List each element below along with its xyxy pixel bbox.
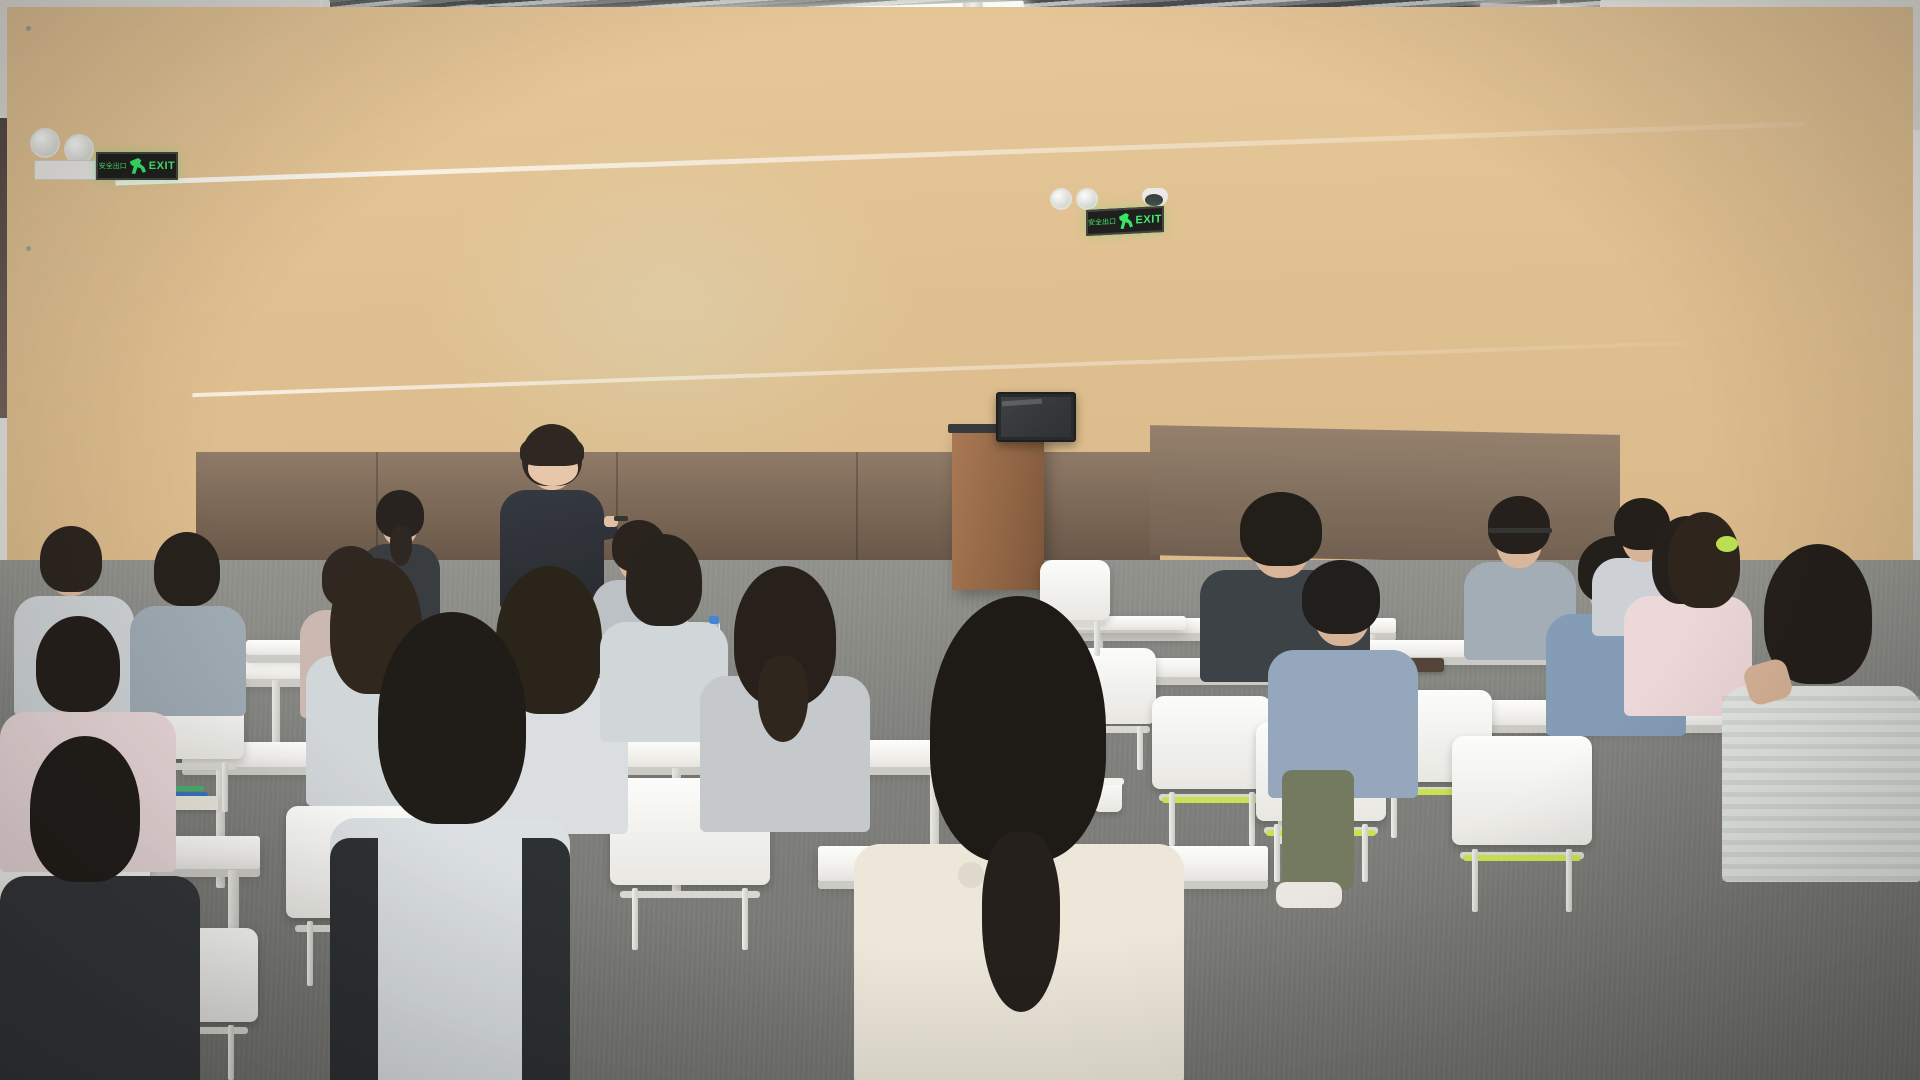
glass-mount-dot [26, 246, 31, 251]
exit-sign-chinese-label: 安全出口 [99, 161, 127, 171]
emergency-lamp [1050, 188, 1072, 210]
attendee [1722, 536, 1920, 876]
training-room-photo: 安全出口 EXIT 安全出口 EXIT PHILIPS 演示窗口 幻灯片放映 二… [0, 0, 1920, 1080]
exit-sign-left: 安全出口 EXIT [96, 152, 178, 180]
running-man-icon [1118, 213, 1134, 230]
chair[interactable] [1452, 736, 1592, 912]
attendee [1268, 554, 1418, 804]
running-man-icon [129, 158, 147, 174]
emergency-light-left [30, 128, 100, 180]
attendee [0, 730, 200, 1080]
lectern [952, 430, 1044, 590]
door-right[interactable] [0, 290, 128, 550]
camera-dome-icon [1145, 194, 1163, 206]
glass-mount-dot [26, 26, 31, 31]
leg [1282, 770, 1354, 890]
attendee [700, 560, 870, 820]
exit-sign-chinese-label: 安全出口 [1088, 216, 1116, 227]
emergency-light-housing [34, 160, 96, 180]
emergency-lamp [1076, 188, 1098, 210]
exit-sign-english-label: EXIT [149, 160, 175, 172]
glasses-icon [1488, 528, 1552, 533]
attendee [854, 580, 1184, 1080]
attendee [330, 598, 570, 1078]
button-detail [958, 862, 984, 888]
podium-monitor [996, 392, 1076, 442]
presenter-fringe [520, 434, 584, 466]
security-camera [1142, 188, 1168, 206]
shoe [1276, 882, 1342, 908]
exit-sign-english-label: EXIT [1136, 213, 1162, 226]
exit-sign-right: 安全出口 EXIT [1086, 206, 1164, 236]
emergency-lamp [30, 128, 60, 158]
